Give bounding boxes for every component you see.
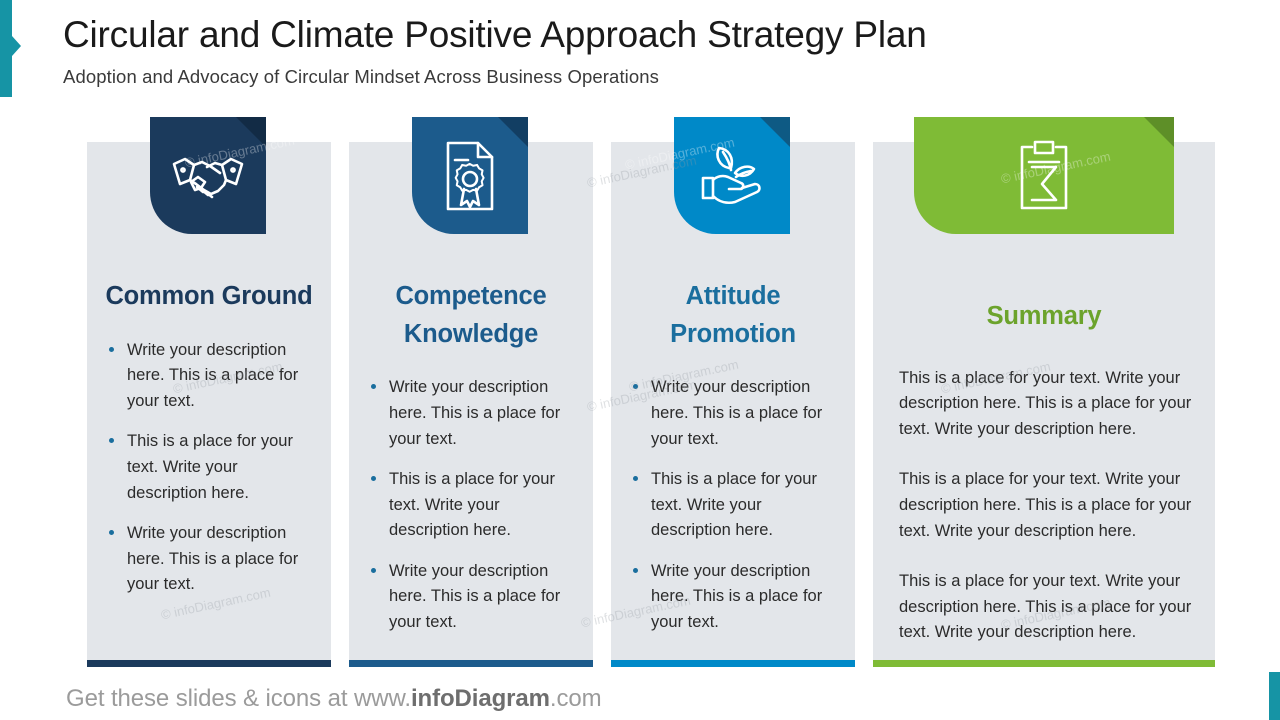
certificate-icon [412, 139, 528, 213]
list-item-text: Write your description here. This is a p… [651, 378, 822, 447]
badge-fold-corner-icon [498, 117, 528, 147]
badge-tile [150, 117, 266, 234]
list-item: Write your description here. This is a p… [105, 521, 317, 598]
list-item-text: Write your description here. This is a p… [127, 341, 298, 410]
cards-row: Common GroundWrite your description here… [87, 142, 1215, 667]
card-competence-knowledge[interactable]: Competence KnowledgeWrite your descripti… [349, 142, 593, 667]
badge-tile [674, 117, 790, 234]
footer-brand: infoDiagram [411, 685, 550, 712]
badge-tile [412, 117, 528, 234]
footer-prefix: Get these slides & icons at www. [66, 685, 411, 712]
list-item-text: Write your description here. This is a p… [389, 378, 560, 447]
badge-fold-corner-icon [236, 117, 266, 147]
list-item-text: Write your description here. This is a p… [389, 562, 560, 631]
list-item: Write your description here. This is a p… [367, 559, 579, 636]
badge-fold-corner-icon [760, 117, 790, 147]
list-item-text: Write your description here. This is a p… [651, 562, 822, 631]
paragraph: This is a place for your text. Write you… [899, 366, 1201, 443]
bullet-dot-icon [633, 568, 638, 573]
card-bottom-bar [873, 660, 1215, 667]
card-heading-summary: Summary [873, 298, 1215, 336]
list-item: This is a place for your text. Write you… [105, 429, 317, 506]
badge-fold-corner-icon [1144, 117, 1174, 147]
list-item: Write your description here. This is a p… [629, 375, 841, 452]
handshake-icon [150, 146, 266, 206]
bullet-dot-icon [109, 347, 114, 352]
clipboard-sigma-icon [914, 140, 1174, 212]
card-bottom-bar [349, 660, 593, 667]
card-badge-summary [914, 117, 1174, 234]
page-title: Circular and Climate Positive Approach S… [63, 14, 1183, 57]
paragraph: This is a place for your text. Write you… [899, 467, 1201, 544]
card-body-common-ground: Write your description here. This is a p… [87, 338, 331, 613]
list-item: This is a place for your text. Write you… [629, 467, 841, 544]
footer-cta[interactable]: Get these slides & icons at www.infoDiag… [66, 685, 601, 713]
paragraph: This is a place for your text. Write you… [899, 569, 1201, 646]
list-item: Write your description here. This is a p… [367, 375, 579, 452]
card-attitude-promotion[interactable]: Attitude PromotionWrite your description… [611, 142, 855, 667]
right-accent-bar [1269, 672, 1280, 720]
list-item-text: This is a place for your text. Write you… [389, 470, 555, 539]
bullet-dot-icon [633, 476, 638, 481]
hand-sprout-icon [674, 144, 790, 208]
left-accent-notch-icon [12, 36, 21, 56]
left-accent-bar [0, 0, 12, 97]
slide: Circular and Climate Positive Approach S… [0, 0, 1280, 720]
list-item: This is a place for your text. Write you… [367, 467, 579, 544]
list-item-text: This is a place for your text. Write you… [127, 432, 293, 501]
badge-tile [914, 117, 1174, 234]
card-bottom-bar [611, 660, 855, 667]
card-common-ground[interactable]: Common GroundWrite your description here… [87, 142, 331, 667]
list-item-text: Write your description here. This is a p… [127, 524, 298, 593]
bullet-dot-icon [371, 384, 376, 389]
bullet-dot-icon [109, 530, 114, 535]
card-body-attitude-promotion: Write your description here. This is a p… [611, 375, 855, 650]
list-item: Write your description here. This is a p… [629, 559, 841, 636]
bullet-dot-icon [371, 568, 376, 573]
card-body-summary: This is a place for your text. Write you… [873, 366, 1215, 671]
card-badge-common-ground [150, 117, 266, 234]
card-heading-common-ground: Common Ground [87, 278, 331, 316]
card-badge-competence-knowledge [412, 117, 528, 234]
card-summary[interactable]: SummaryThis is a place for your text. Wr… [873, 142, 1215, 667]
header: Circular and Climate Positive Approach S… [63, 14, 1183, 88]
bullet-dot-icon [633, 384, 638, 389]
page-subtitle: Adoption and Advocacy of Circular Mindse… [63, 66, 1183, 88]
list-item-text: This is a place for your text. Write you… [651, 470, 817, 539]
card-body-competence-knowledge: Write your description here. This is a p… [349, 375, 593, 650]
card-heading-attitude-promotion: Attitude Promotion [611, 278, 855, 353]
footer-suffix: .com [550, 685, 602, 712]
bullet-dot-icon [109, 438, 114, 443]
bullet-dot-icon [371, 476, 376, 481]
card-heading-competence-knowledge: Competence Knowledge [349, 278, 593, 353]
card-bottom-bar [87, 660, 331, 667]
card-badge-attitude-promotion [674, 117, 790, 234]
list-item: Write your description here. This is a p… [105, 338, 317, 415]
